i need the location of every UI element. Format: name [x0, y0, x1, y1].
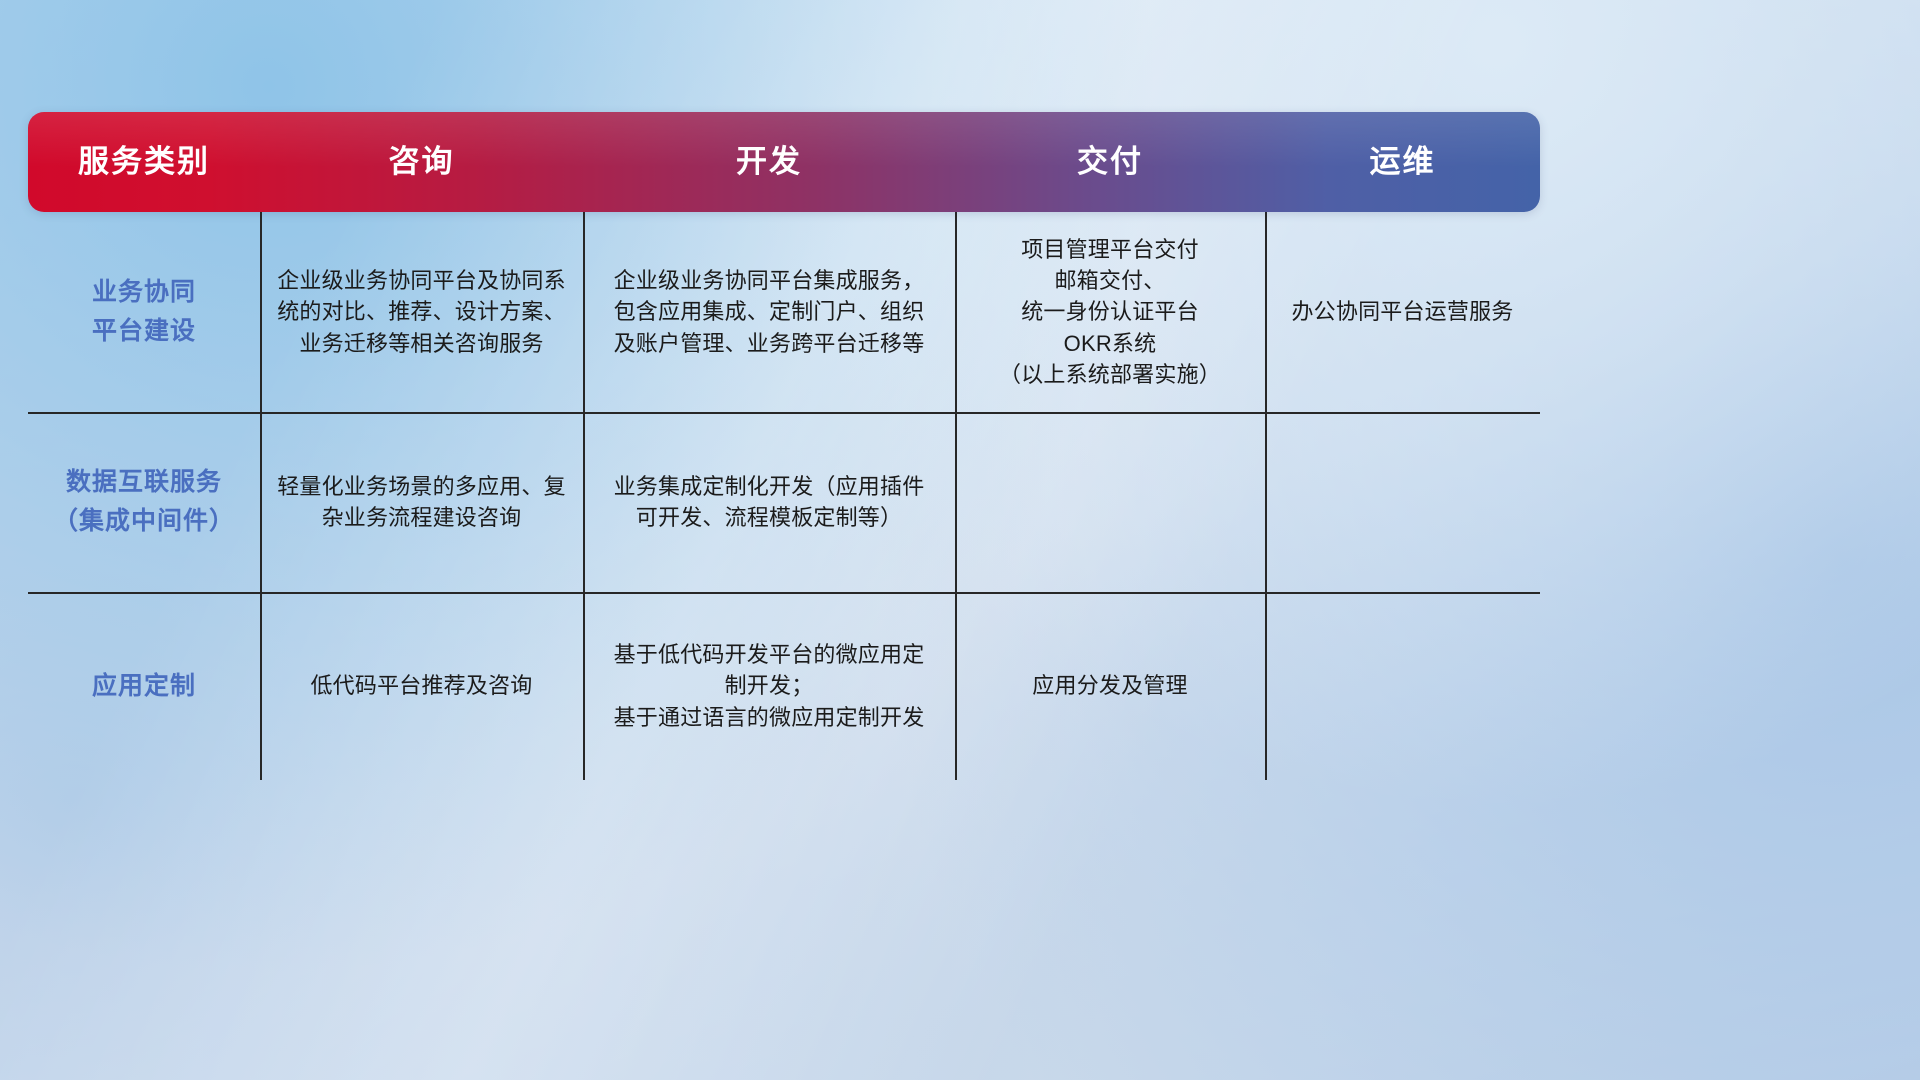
cell-operations — [1265, 412, 1540, 592]
cell-operations: 办公协同平台运营服务 — [1265, 212, 1540, 412]
cell-development: 业务集成定制化开发（应用插件 可开发、流程模板定制等） — [583, 412, 955, 592]
cell-text: 低代码平台推荐及咨询 — [310, 670, 532, 701]
cell-text: 数据互联服务 （集成中间件） — [53, 463, 235, 541]
table-header-row: 服务类别 咨询 开发 交付 运维 — [28, 112, 1540, 212]
row-category-cell: 数据互联服务 （集成中间件） — [28, 412, 260, 592]
table-body: 业务协同 平台建设 企业级业务协同平台及协同系 统的对比、推荐、设计方案、 业务… — [28, 212, 1540, 780]
cell-text: 企业级业务协同平台及协同系 统的对比、推荐、设计方案、 业务迁移等相关咨询服务 — [277, 265, 566, 359]
service-matrix-table: 服务类别 咨询 开发 交付 运维 业务协同 平台建设 企业级业 — [28, 112, 1540, 780]
column-header-label: 交付 — [1077, 144, 1143, 179]
cell-development: 企业级业务协同平台集成服务， 包含应用集成、定制门户、组织 及账户管理、业务跨平… — [583, 212, 955, 412]
cell-consulting: 轻量化业务场景的多应用、复 杂业务流程建设咨询 — [260, 412, 583, 592]
cell-development: 基于低代码开发平台的微应用定 制开发； 基于通过语言的微应用定制开发 — [583, 592, 955, 780]
column-header-label: 开发 — [736, 144, 802, 179]
cell-text: 办公协同平台运营服务 — [1291, 296, 1513, 327]
column-header-development: 开发 — [583, 145, 955, 179]
row-category-cell: 业务协同 平台建设 — [28, 212, 260, 412]
table-row: 数据互联服务 （集成中间件） 轻量化业务场景的多应用、复 杂业务流程建设咨询 业… — [28, 412, 1540, 592]
cell-consulting: 低代码平台推荐及咨询 — [260, 592, 583, 780]
cell-text: 项目管理平台交付 邮箱交付、 统一身份认证平台 OKR系统 （以上系统部署实施） — [999, 234, 1221, 390]
cell-text: 基于低代码开发平台的微应用定 制开发； 基于通过语言的微应用定制开发 — [614, 639, 925, 733]
cell-text: 应用分发及管理 — [1032, 670, 1187, 701]
column-header-label: 咨询 — [389, 144, 455, 179]
cell-text: 轻量化业务场景的多应用、复 杂业务流程建设咨询 — [277, 471, 566, 533]
row-category-cell: 应用定制 — [28, 592, 260, 780]
cell-consulting: 企业级业务协同平台及协同系 统的对比、推荐、设计方案、 业务迁移等相关咨询服务 — [260, 212, 583, 412]
cell-delivery: 项目管理平台交付 邮箱交付、 统一身份认证平台 OKR系统 （以上系统部署实施） — [955, 212, 1265, 412]
cell-text: 业务集成定制化开发（应用插件 可开发、流程模板定制等） — [614, 471, 925, 533]
column-header-service-category: 服务类别 — [28, 145, 260, 179]
cell-operations — [1265, 592, 1540, 780]
table-row: 业务协同 平台建设 企业级业务协同平台及协同系 统的对比、推荐、设计方案、 业务… — [28, 212, 1540, 412]
cell-delivery: 应用分发及管理 — [955, 592, 1265, 780]
cell-delivery — [955, 412, 1265, 592]
column-header-operations: 运维 — [1265, 145, 1540, 179]
table-row: 应用定制 低代码平台推荐及咨询 基于低代码开发平台的微应用定 制开发； 基于通过… — [28, 592, 1540, 780]
cell-text: 应用定制 — [92, 667, 196, 706]
column-header-consulting: 咨询 — [260, 145, 583, 179]
column-header-label: 运维 — [1370, 144, 1436, 179]
cell-text: 企业级业务协同平台集成服务， 包含应用集成、定制门户、组织 及账户管理、业务跨平… — [614, 265, 925, 359]
column-header-delivery: 交付 — [955, 145, 1265, 179]
cell-text: 业务协同 平台建设 — [92, 273, 196, 351]
column-header-label: 服务类别 — [78, 144, 210, 179]
